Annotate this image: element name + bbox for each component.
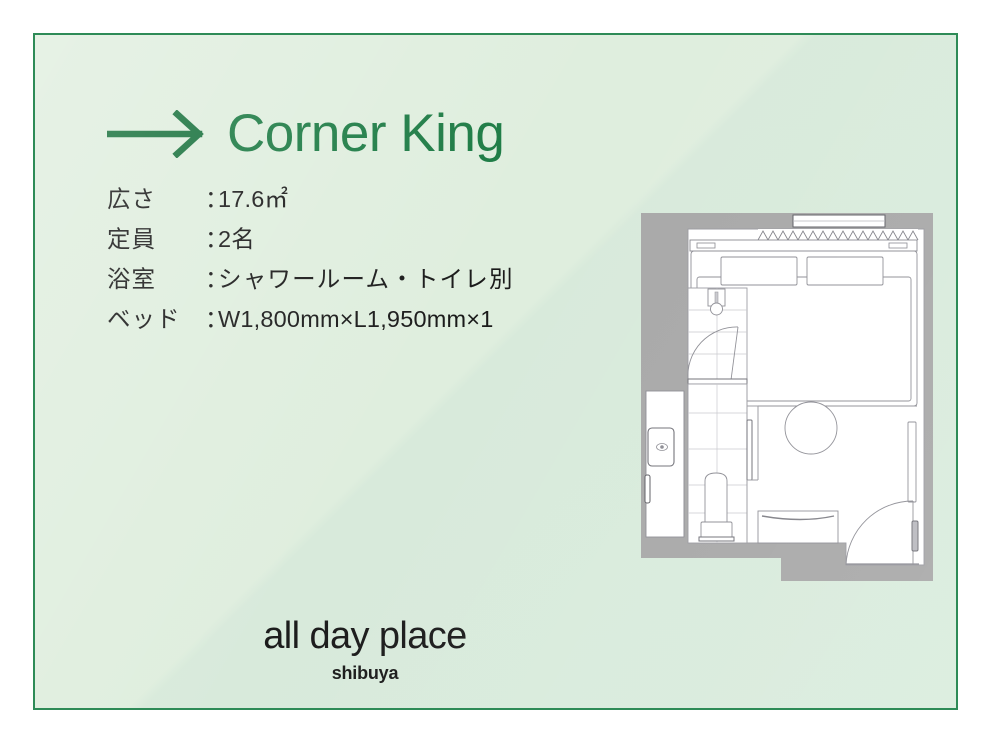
shower-room	[688, 288, 747, 384]
pillow-right	[807, 257, 883, 285]
spec-label-area: 広さ	[107, 180, 205, 214]
spec-colon-capacity: ：	[205, 220, 218, 254]
vanity-handle	[645, 475, 650, 503]
spec-colon-bathroom: ：	[205, 260, 218, 294]
spec-value-capacity: 2名	[218, 220, 255, 254]
spec-colon-bed: ：	[205, 300, 218, 334]
spec-label-bathroom: 浴室	[107, 260, 205, 294]
brand-logo-name: all day place	[225, 617, 505, 655]
slide-root: Corner King 広さ ： 17.6㎡ 定員 ： 2名 浴室 ： シャワー…	[0, 0, 1000, 750]
entrance-door-handle	[912, 521, 918, 551]
spec-value-bathroom: シャワールーム・トイレ別	[218, 260, 514, 294]
spec-row-bathroom: 浴室 ： シャワールーム・トイレ別	[107, 260, 514, 300]
pillow-left	[721, 257, 797, 285]
page-title-group: Corner King	[107, 107, 504, 160]
page-title: Corner King	[227, 107, 504, 160]
spec-value-area: 17.6㎡	[218, 180, 288, 214]
spec-colon-area: ：	[205, 180, 218, 214]
spec-row-bed: ベッド ： W1,800mm×L1,950mm×1	[107, 300, 514, 340]
brand-logo-location: shibuya	[225, 664, 505, 682]
spec-row-area: 広さ ： 17.6㎡	[107, 180, 514, 220]
spec-label-capacity: 定員	[107, 220, 205, 254]
wardrobe-panel	[908, 422, 916, 502]
spec-label-bed: ベッド	[107, 300, 205, 334]
round-side-table	[785, 402, 837, 454]
corner-king-floorplan	[641, 213, 933, 581]
shower-head-icon	[708, 289, 725, 315]
window	[793, 215, 885, 227]
spec-row-capacity: 定員 ： 2名	[107, 220, 514, 260]
spec-value-bed: W1,800mm×L1,950mm×1	[218, 306, 493, 333]
partition-door-panel	[747, 420, 752, 480]
brand-logo: all day place shibuya	[225, 617, 505, 682]
arrow-right-icon	[107, 110, 205, 158]
spec-list: 広さ ： 17.6㎡ 定員 ： 2名 浴室 ： シャワールーム・トイレ別 ベッド…	[107, 180, 514, 340]
vanity-counter	[645, 391, 684, 537]
headboard-shelf	[690, 240, 917, 251]
bench-luggage	[758, 511, 838, 543]
content-card: Corner King 広さ ： 17.6㎡ 定員 ： 2名 浴室 ： シャワー…	[33, 33, 958, 710]
curtain	[758, 229, 918, 240]
